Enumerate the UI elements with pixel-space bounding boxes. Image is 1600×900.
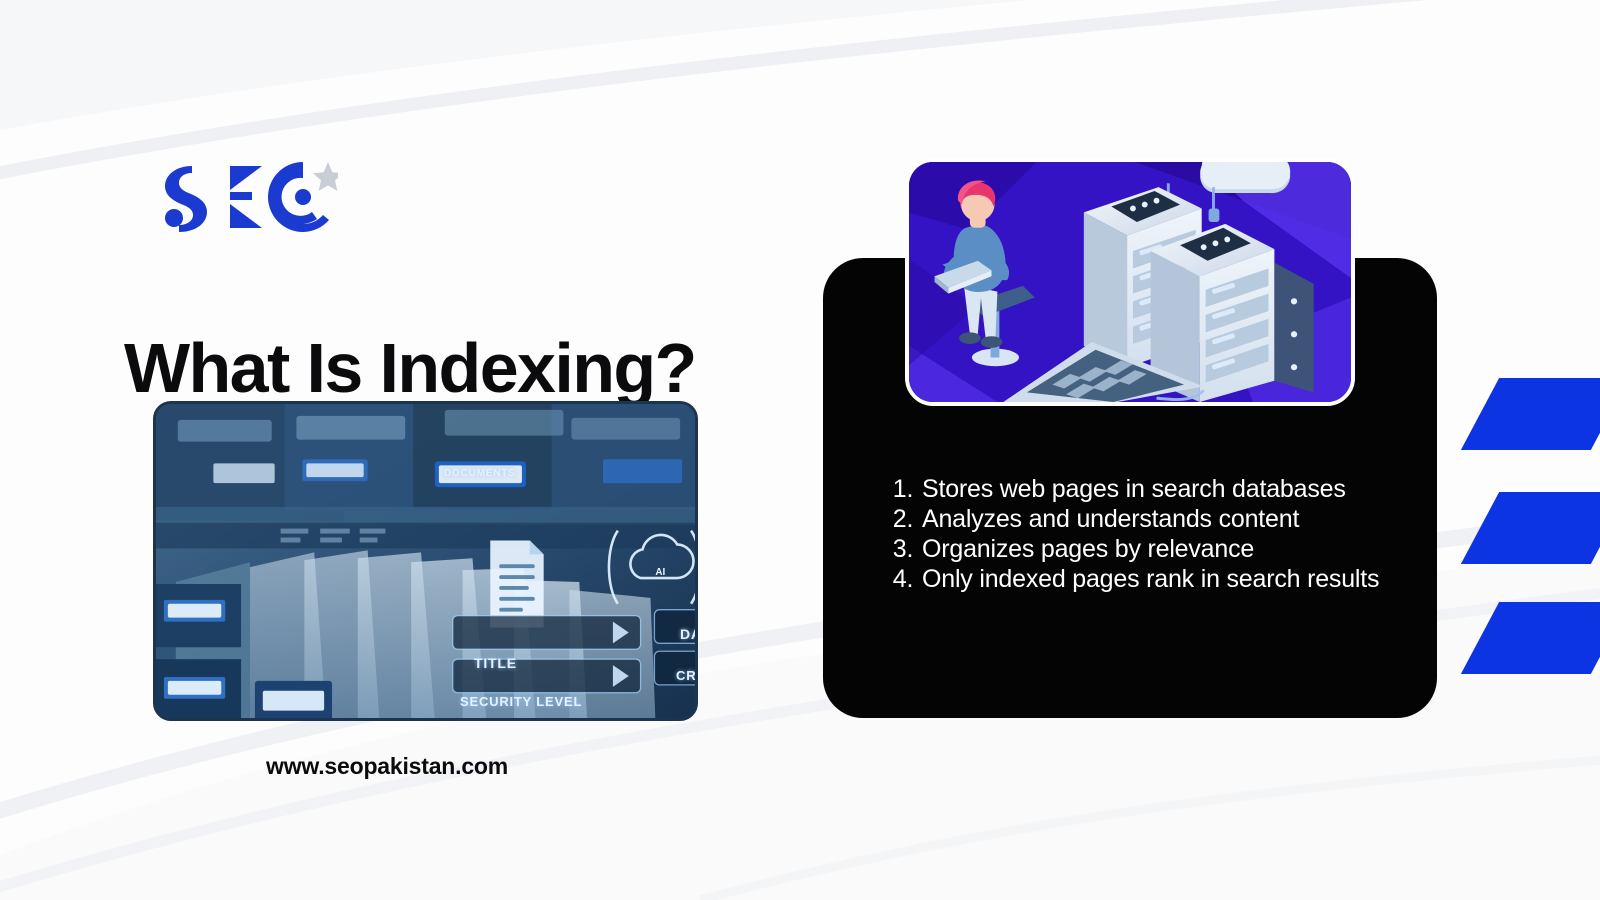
seo-logo[interactable] [158,160,338,232]
page-title: What Is Indexing? [124,331,696,407]
infographic-slide: What Is Indexing? [0,0,1600,900]
star-icon [313,162,338,191]
hud-label-date: DATE [680,626,698,642]
list-item: Only indexed pages rank in search result… [920,564,1379,594]
document-archive-photo: AI DOCUMENTS TITLE DATE SECURITY LEVEL C… [153,401,698,721]
website-url[interactable]: www.seopakistan.com [266,753,508,780]
document-page-icon [490,540,543,627]
stripe-3 [1461,602,1600,674]
blue-diagonal-stripes [1480,370,1600,700]
svg-text:AI: AI [655,567,665,578]
list-item: Stores web pages in search databases [920,474,1379,504]
hud-label-creator: CREATOR [676,668,698,683]
stripe-1 [1461,378,1600,450]
seo-wordmark-logo [165,162,338,232]
logo-inner-dot [295,189,311,205]
list-item: Analyzes and understands content [920,504,1379,534]
stripe-2 [1461,492,1600,564]
hud-label-title: TITLE [474,655,517,671]
hud-label-security-level: SECURITY LEVEL [460,694,582,709]
indexing-feature-list: Stores web pages in search databases Ana… [884,474,1379,594]
hud-label-documents: DOCUMENTS [444,468,516,479]
list-item: Organizes pages by relevance [920,534,1379,564]
logo-dot [165,209,183,227]
server-rack-isometric-illustration [905,158,1355,406]
